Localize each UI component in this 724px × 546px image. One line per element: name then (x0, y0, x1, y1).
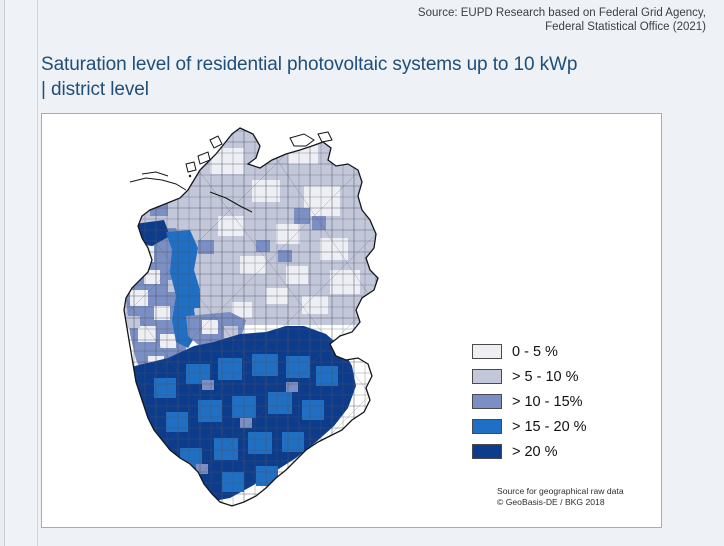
page-title-line1: Saturation level of residential photovol… (41, 52, 691, 77)
germany-choropleth-map (90, 120, 420, 525)
source-attribution-top: Source: EUPD Research based on Federal G… (386, 6, 706, 34)
source-geo-line2: © GeoBasis-DE / BKG 2018 (497, 497, 657, 508)
legend-item[interactable]: 0 - 5 % (472, 339, 647, 364)
map-svg (90, 120, 420, 525)
source-attribution-geo: Source for geographical raw data © GeoBa… (497, 486, 657, 508)
legend-label-10-15: > 10 - 15% (512, 394, 583, 410)
map-legend: 0 - 5 % > 5 - 10 % > 10 - 15% > 15 - 20 … (472, 339, 647, 464)
source-top-line2: Federal Statistical Office (2021) (386, 20, 706, 34)
legend-item[interactable]: > 5 - 10 % (472, 364, 647, 389)
page-title: Saturation level of residential photovol… (41, 52, 691, 102)
legend-item[interactable]: > 15 - 20 % (472, 414, 647, 439)
legend-item[interactable]: > 10 - 15% (472, 389, 647, 414)
legend-label-0-5: 0 - 5 % (512, 344, 558, 360)
legend-swatch-15-20 (472, 419, 502, 434)
legend-swatch-over-20 (472, 444, 502, 459)
page-title-line2: | district level (41, 77, 691, 102)
legend-swatch-0-5 (472, 344, 502, 359)
legend-swatch-5-10 (472, 369, 502, 384)
slide-background: Source: EUPD Research based on Federal G… (0, 0, 724, 546)
chart-panel: 0 - 5 % > 5 - 10 % > 10 - 15% > 15 - 20 … (41, 113, 662, 528)
legend-item[interactable]: > 20 % (472, 439, 647, 464)
legend-label-15-20: > 15 - 20 % (512, 419, 587, 435)
source-geo-line1: Source for geographical raw data (497, 486, 657, 497)
legend-swatch-10-15 (472, 394, 502, 409)
legend-label-5-10: > 5 - 10 % (512, 369, 579, 385)
legend-label-over-20: > 20 % (512, 444, 558, 460)
source-top-line1: Source: EUPD Research based on Federal G… (386, 6, 706, 20)
